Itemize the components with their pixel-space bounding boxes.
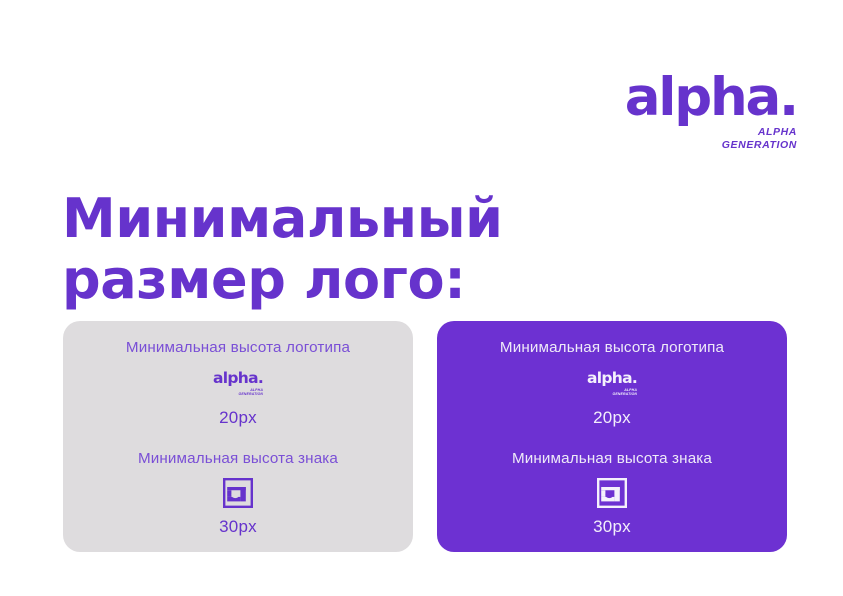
mini-logo-wordmark: alpha. xyxy=(213,371,263,387)
symbol-min-height-value: 30px xyxy=(593,517,631,537)
mini-logo-tagline: ALPHA GENERATION xyxy=(213,388,263,397)
symbol-min-height-label: Минимальная высота знака xyxy=(138,450,338,468)
brand-wordmark: alpha. xyxy=(625,74,797,123)
logo-min-height-label: Минимальная высота логотипа xyxy=(126,339,350,357)
min-size-card-light: Минимальная высота логотипа alpha. ALPHA… xyxy=(63,321,413,552)
min-size-cards: Минимальная высота логотипа alpha. ALPHA… xyxy=(63,321,790,552)
brand-tagline: ALPHA GENERATION xyxy=(625,126,797,152)
mini-logo-wordmark: alpha. xyxy=(587,371,637,387)
symbol-min-height-label: Минимальная высота знака xyxy=(512,450,712,468)
mini-logo-tagline-line2: GENERATION xyxy=(587,392,637,396)
mini-logo-lockup-dark: alpha. ALPHA GENERATION xyxy=(587,371,637,396)
logo-min-height-label: Минимальная высота логотипа xyxy=(500,339,724,357)
symbol-mark-dark-wrap xyxy=(597,478,627,508)
page-title: Минимальный размер лого: xyxy=(62,188,622,310)
alpha-symbol-icon xyxy=(223,478,253,508)
logo-min-height-value: 20px xyxy=(219,408,257,428)
mini-logo-lockup-light: alpha. ALPHA GENERATION xyxy=(213,371,263,396)
page-title-line1: Минимальный xyxy=(62,188,622,249)
symbol-mark-light-wrap xyxy=(223,478,253,508)
min-size-card-dark: Минимальная высота логотипа alpha. ALPHA… xyxy=(437,321,787,552)
page-title-line2: размер лого: xyxy=(62,249,622,310)
symbol-min-height-value: 30px xyxy=(219,517,257,537)
slide-canvas: alpha. ALPHA GENERATION Минимальный разм… xyxy=(0,0,843,596)
brand-logo-lockup: alpha. ALPHA GENERATION xyxy=(625,74,797,151)
logo-min-height-value: 20px xyxy=(593,408,631,428)
brand-tagline-line2: GENERATION xyxy=(625,139,797,152)
mini-logo-tagline-line2: GENERATION xyxy=(213,392,263,396)
alpha-symbol-icon xyxy=(597,478,627,508)
mini-logo-tagline: ALPHA GENERATION xyxy=(587,388,637,397)
